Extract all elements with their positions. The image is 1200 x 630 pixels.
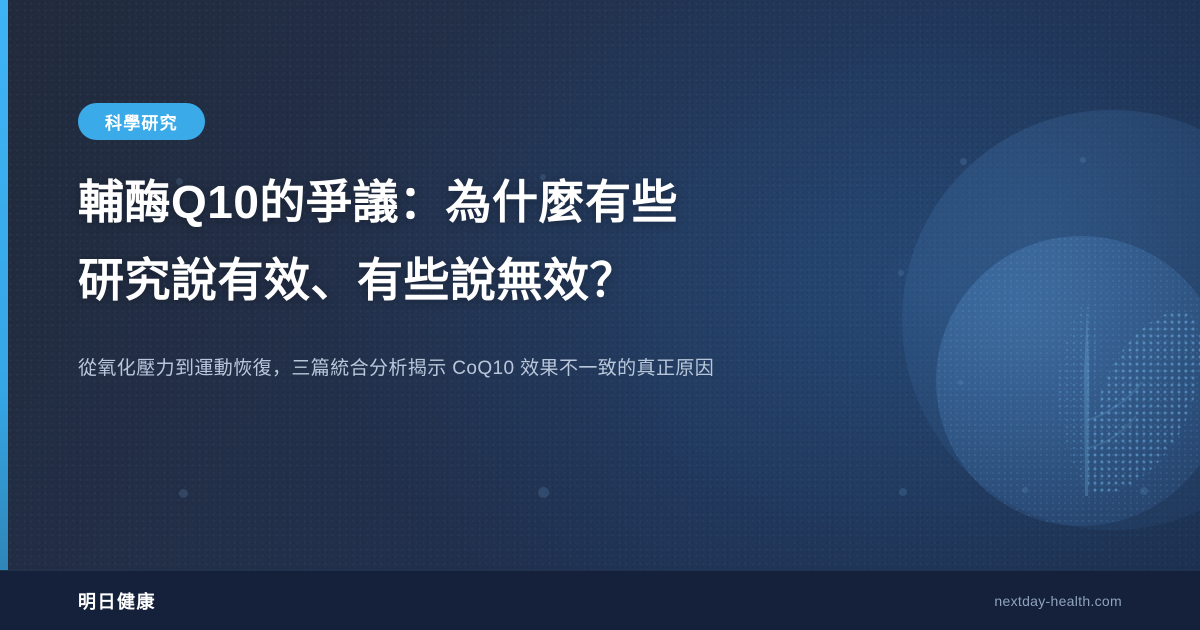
site-url[interactable]: nextday-health.com xyxy=(994,593,1122,609)
dotted-leaf-molecule-icon xyxy=(960,250,1200,520)
particle-dot xyxy=(538,487,549,498)
particle-dot xyxy=(1022,487,1028,493)
category-badge[interactable]: 科學研究 xyxy=(78,103,205,140)
particle-dot xyxy=(1140,487,1148,495)
brand-name: 明日健康 xyxy=(78,588,156,614)
particle-dot xyxy=(899,488,907,496)
hero-content: 科學研究 輔酶Q10的爭議：為什麼有些 研究說有效、有些說無效？ 從氧化壓力到運… xyxy=(78,0,958,384)
particle-dot xyxy=(958,380,963,385)
left-accent-bar xyxy=(0,0,8,630)
footer-inner: 明日健康 nextday-health.com xyxy=(0,571,1200,630)
page-title: 輔酶Q10的爭議：為什麼有些 研究說有效、有些說無效？ xyxy=(78,163,958,319)
particle-dot xyxy=(960,158,967,165)
particle-dot xyxy=(1080,157,1086,163)
page-subtitle: 從氧化壓力到運動恢復，三篇統合分析揭示 CoQ10 效果不一致的真正原因 xyxy=(78,354,958,384)
social-share-card: 科學研究 輔酶Q10的爭議：為什麼有些 研究說有效、有些說無效？ 從氧化壓力到運… xyxy=(0,0,1200,630)
footer-bar: 明日健康 nextday-health.com xyxy=(0,570,1200,630)
particle-dot xyxy=(179,489,188,498)
